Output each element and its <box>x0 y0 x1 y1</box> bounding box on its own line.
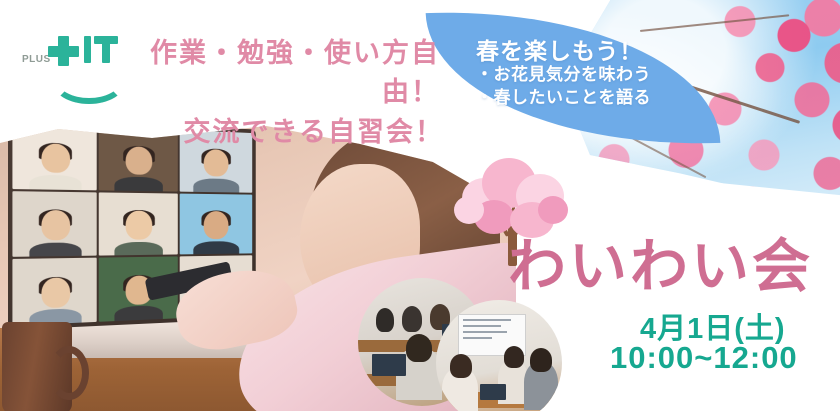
video-call-tile <box>12 122 97 190</box>
video-call-tile <box>12 191 97 257</box>
participant-face <box>41 143 70 174</box>
person-head <box>530 348 552 372</box>
participant-face <box>41 277 70 308</box>
tree-blossom <box>538 196 568 224</box>
speech-blob-text: 春を楽しもう！ ・お花見気分を味わう ・春したいことを語る <box>476 38 726 109</box>
laptop <box>480 384 506 400</box>
blob-bullet-1: ・お花見気分を味わう <box>476 64 726 86</box>
logo-letter-t <box>94 36 118 44</box>
participant-face <box>204 211 229 239</box>
smile-icon <box>52 58 126 104</box>
event-flyer: 春を楽しもう！ ・お花見気分を味わう ・春したいことを語る PLUS 作業・勉強… <box>0 0 840 411</box>
participant-body <box>194 178 239 192</box>
plus-it-logo[interactable]: PLUS <box>22 32 114 80</box>
person-head <box>504 346 524 368</box>
headline: 作業・勉強・使い方自由！ 交流できる自習会！ <box>128 34 448 152</box>
person <box>402 306 422 332</box>
laptop <box>372 354 406 376</box>
person-head <box>406 334 432 362</box>
participant-face <box>126 211 153 240</box>
plus-sign-icon <box>48 46 79 57</box>
person <box>376 308 394 332</box>
participant-body <box>29 174 81 190</box>
headline-line-2: 交流できる自習会！ <box>128 113 448 152</box>
participant-body <box>114 305 163 322</box>
coffee-mug <box>2 322 72 411</box>
participant-face <box>41 210 70 240</box>
event-time: 10:00~12:00 <box>610 340 798 376</box>
person-head <box>450 354 472 378</box>
participant-face <box>204 149 229 178</box>
participant-body <box>194 241 239 255</box>
tree-blossom <box>454 196 484 224</box>
participant-body <box>114 241 163 256</box>
video-call-tile <box>99 192 177 256</box>
event-title: わいわい会 <box>508 238 813 296</box>
headline-line-1: 作業・勉強・使い方自由！ <box>128 34 448 113</box>
participant-body <box>114 176 163 191</box>
blob-bullet-2: ・春したいことを語る <box>476 87 726 109</box>
video-call-tile <box>12 258 97 326</box>
blob-title: 春を楽しもう！ <box>476 38 726 64</box>
participant-body <box>29 242 81 257</box>
people-whiteboard-circle-photo <box>436 300 562 411</box>
logo-plus-word: PLUS <box>22 54 51 65</box>
video-call-tile <box>179 193 252 254</box>
